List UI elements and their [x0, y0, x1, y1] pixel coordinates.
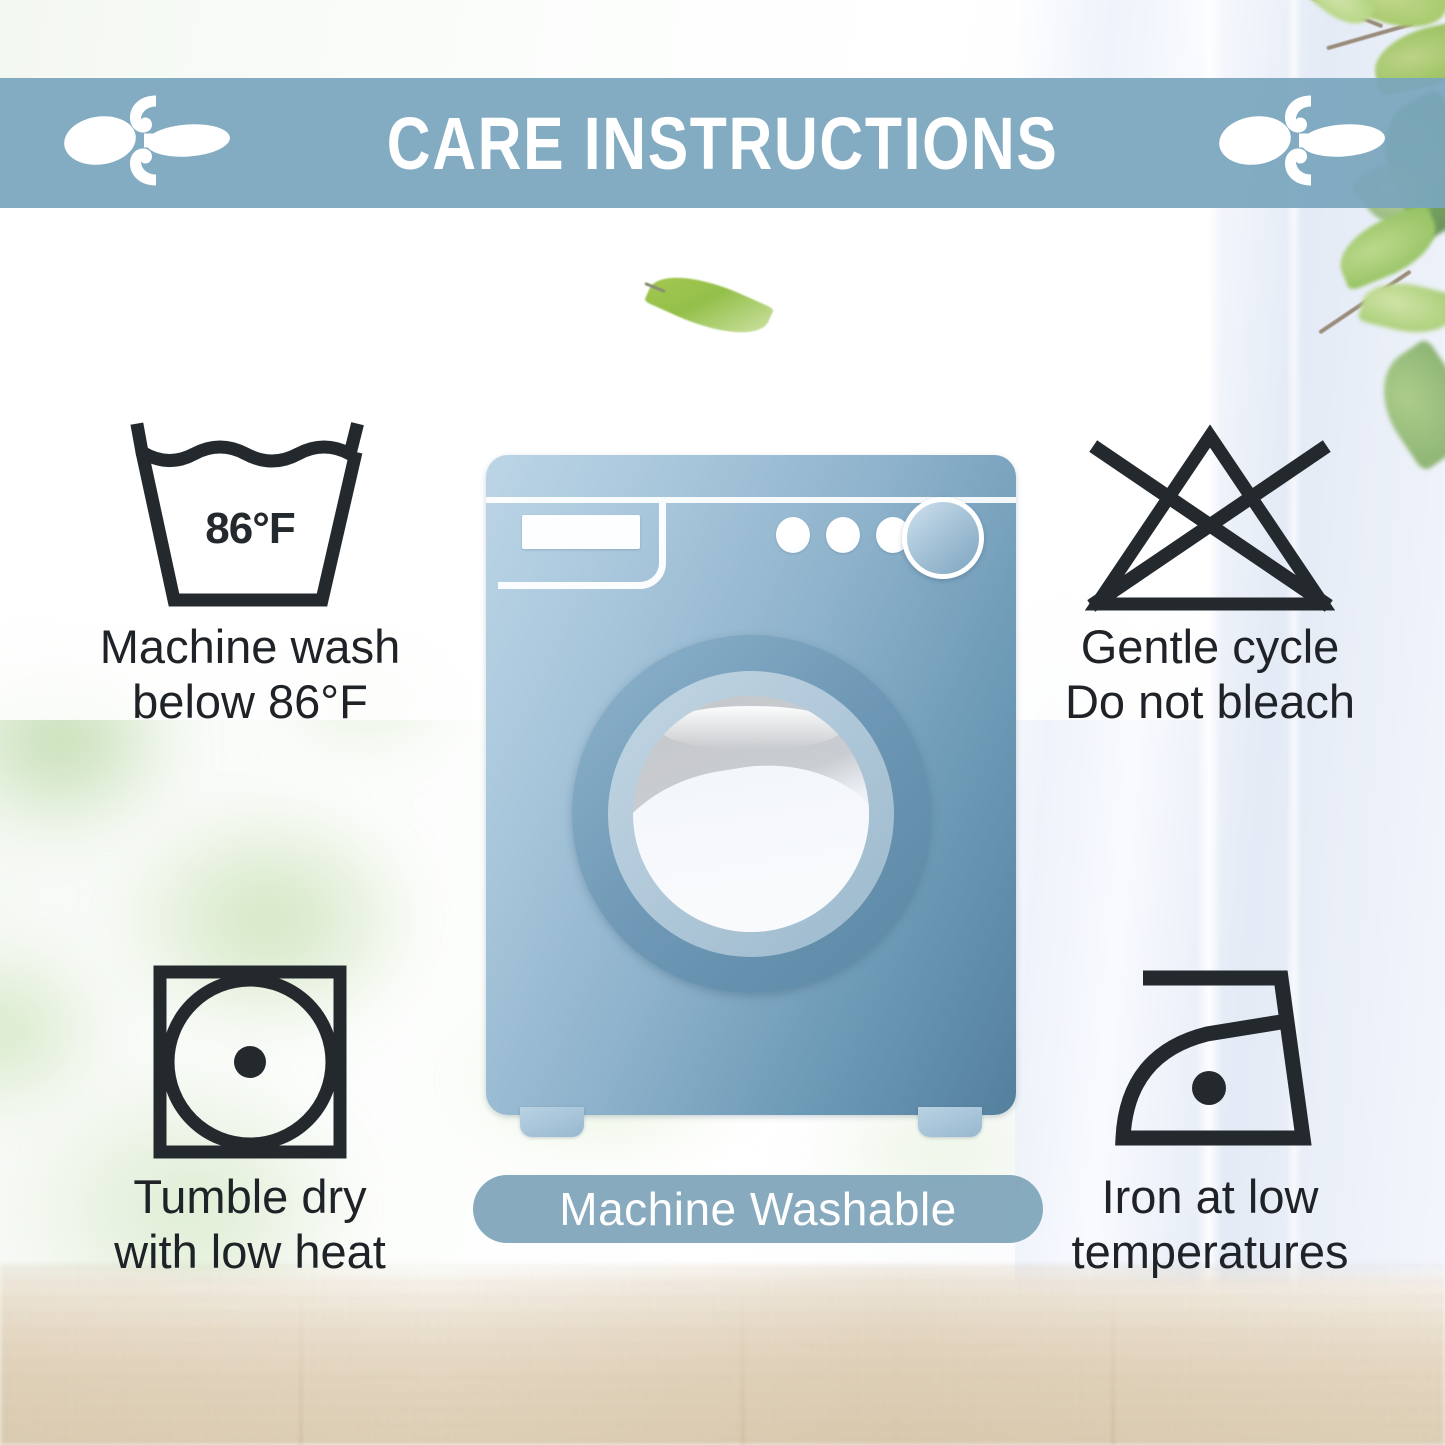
fleur-de-lis-right-icon	[1215, 86, 1385, 201]
wash-temperature-value: 86°F	[205, 504, 294, 554]
indicator-light-1	[776, 517, 810, 553]
door-inner-ring	[608, 671, 894, 957]
care-label-tumble-dry: Tumble dry with low heat	[40, 1170, 460, 1279]
washing-machine-illustration	[486, 455, 1016, 1115]
door-glass	[633, 696, 869, 932]
wash-tub-icon: 86°F	[40, 420, 460, 620]
background-wood-grain	[0, 1265, 1445, 1445]
care-item-tumble-dry: Tumble dry with low heat	[40, 960, 460, 1279]
do-not-bleach-triangle-icon	[1000, 420, 1420, 620]
care-item-iron-low: Iron at low temperatures	[1000, 960, 1420, 1279]
care-item-do-not-bleach: Gentle cycle Do not bleach	[1000, 420, 1420, 729]
door-glass-highlight	[659, 706, 843, 750]
care-label-machine-wash: Machine wash below 86°F	[40, 620, 460, 729]
machine-washable-badge: Machine Washable	[473, 1175, 1043, 1243]
indicator-light-2	[826, 517, 860, 553]
control-knob	[902, 497, 984, 579]
iron-low-temperature-icon	[1000, 960, 1420, 1170]
door-glass-swoosh	[633, 746, 869, 932]
care-instructions-infographic: CARE INSTRUCTIONS 86°F Machine wash belo…	[0, 0, 1445, 1445]
wood-plank-seam-1	[300, 1295, 302, 1445]
detergent-drawer-handle	[522, 515, 640, 549]
care-label-iron-low: Iron at low temperatures	[1000, 1170, 1420, 1279]
wood-plank-seam-3	[1112, 1295, 1114, 1445]
care-label-do-not-bleach: Gentle cycle Do not bleach	[1000, 620, 1420, 729]
page-title: CARE INSTRUCTIONS	[387, 101, 1059, 186]
header-banner: CARE INSTRUCTIONS	[0, 78, 1445, 208]
fleur-de-lis-left-icon	[60, 86, 230, 201]
machine-foot-right	[918, 1107, 982, 1137]
door-outer-ring	[572, 635, 930, 993]
machine-foot-left	[520, 1107, 584, 1137]
wood-plank-seam-2	[742, 1295, 744, 1445]
tumble-dry-low-icon	[40, 960, 460, 1170]
care-item-machine-wash: 86°F Machine wash below 86°F	[40, 420, 460, 729]
machine-washable-badge-label: Machine Washable	[559, 1182, 957, 1236]
